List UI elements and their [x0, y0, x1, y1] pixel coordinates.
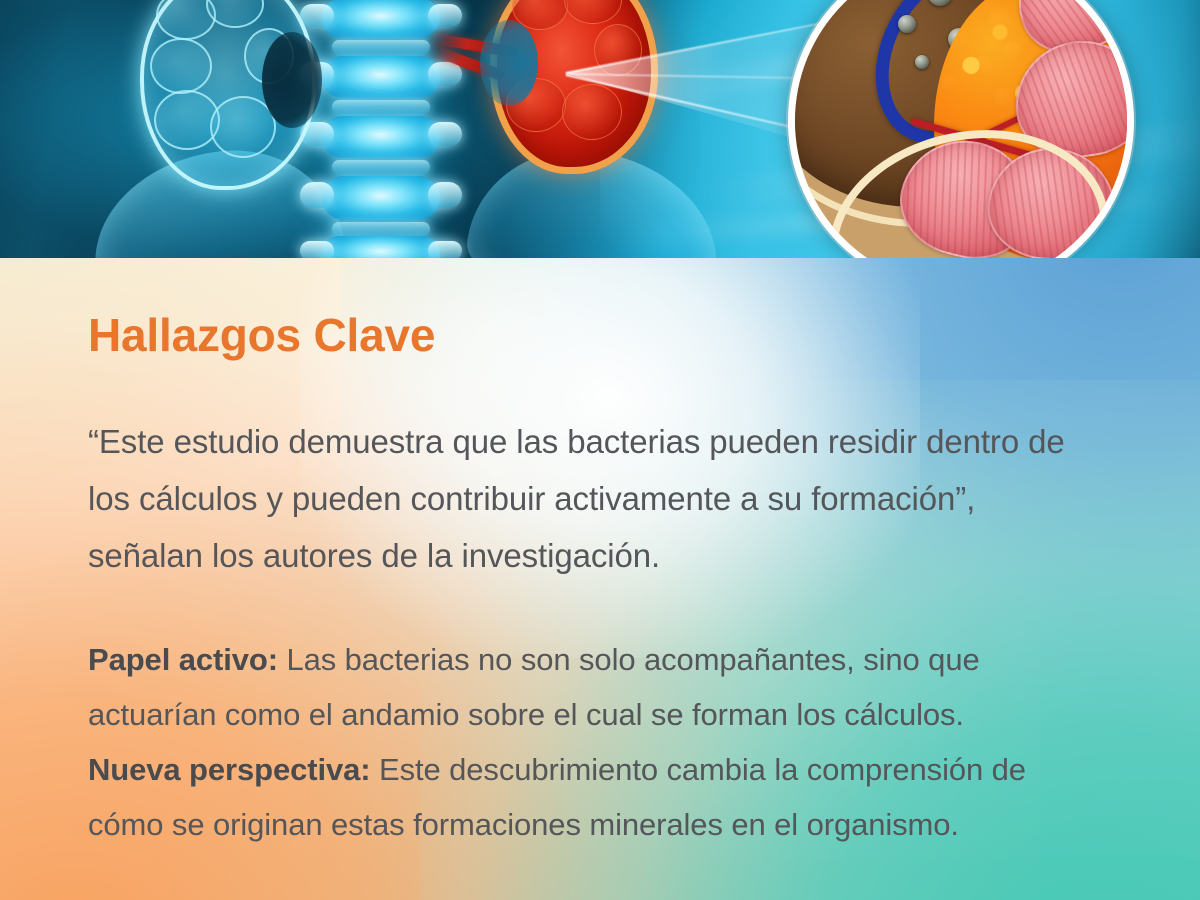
- findings-list: Papel activo: Las bacterias no son solo …: [88, 584, 1118, 852]
- kidney-stone: [915, 55, 929, 69]
- finding-item: Nueva perspectiva: Este descubrimiento c…: [88, 742, 1098, 852]
- finding-item: Papel activo: Las bacterias no son solo …: [88, 632, 1098, 742]
- kidney-stone: [898, 15, 916, 33]
- infographic-page: Hallazgos Clave “Este estudio demuestra …: [0, 0, 1200, 900]
- quote-text: “Este estudio demuestra que las bacteria…: [88, 358, 1088, 584]
- content-panel: Hallazgos Clave “Este estudio demuestra …: [0, 258, 1200, 900]
- section-title: Hallazgos Clave: [88, 258, 1118, 358]
- content-column: Hallazgos Clave “Este estudio demuestra …: [88, 258, 1118, 852]
- finding-label: Nueva perspectiva:: [88, 752, 371, 787]
- left-kidney-xray: [140, 0, 316, 190]
- magnified-kidney-stone-cross-section: [788, 0, 1134, 258]
- hero-medical-image: [0, 0, 1200, 258]
- finding-label: Papel activo:: [88, 642, 278, 677]
- spine-vertebrae: [322, 0, 440, 258]
